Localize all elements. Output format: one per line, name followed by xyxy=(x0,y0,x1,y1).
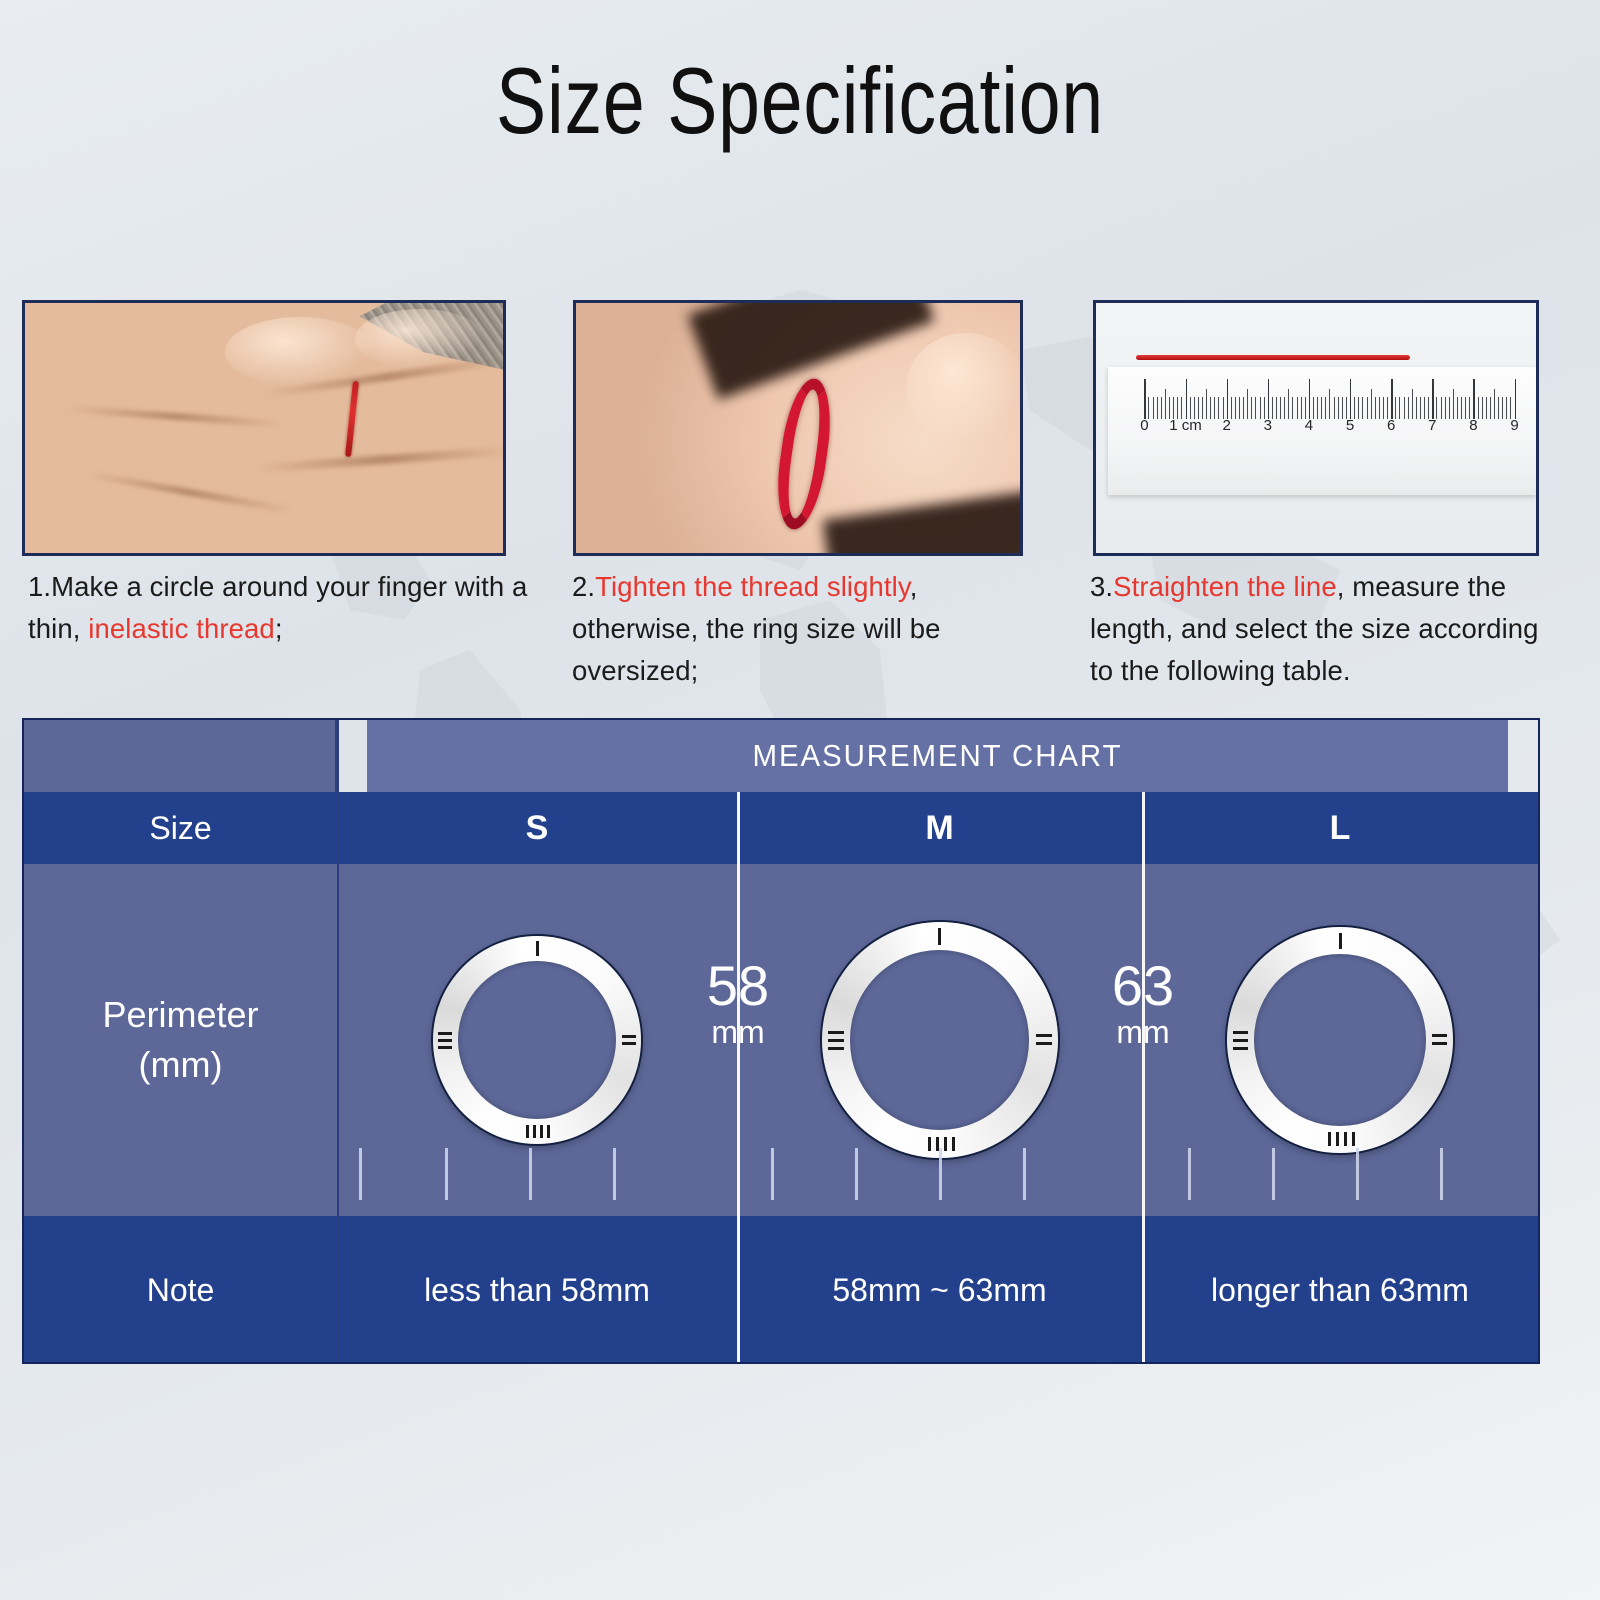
step-1-number: 1. xyxy=(28,571,51,602)
ruler-label-7: 7 xyxy=(1428,417,1436,434)
step-3-highlight: Straighten the line xyxy=(1113,571,1337,602)
ruler-numbers: 01 cm23456789 xyxy=(1108,417,1536,445)
threshold-63-value: 63 xyxy=(1095,958,1191,1014)
ruler-label-4: 4 xyxy=(1305,417,1313,434)
ruler-label-6: 6 xyxy=(1387,417,1395,434)
red-thread-ring xyxy=(770,377,837,532)
column-divider-label xyxy=(337,720,339,1364)
step-3-photo: 01 cm23456789 xyxy=(1093,300,1539,556)
scale-ticks-m xyxy=(737,1148,1142,1200)
note-row: Note less than 58mm 58mm ~ 63mm longer t… xyxy=(24,1216,1538,1364)
ruler-label-2: 2 xyxy=(1222,417,1230,434)
threshold-58-value: 58 xyxy=(690,958,786,1014)
measurement-chart-table: MEASUREMENT CHART Size S M L Perimeter (… xyxy=(22,718,1540,1364)
ring-cell-m xyxy=(737,864,1142,1216)
scale-ticks-s xyxy=(337,1148,737,1200)
ruler-label-9: 9 xyxy=(1510,417,1518,434)
finger-closeup-image xyxy=(576,303,1020,553)
step-2-caption: 2.Tighten the thread slightly, otherwise… xyxy=(572,566,1032,692)
note-row-label: Note xyxy=(24,1216,337,1364)
perimeter-label-text: Perimeter xyxy=(102,990,258,1040)
ruler-label-1: 1 cm xyxy=(1169,417,1202,434)
ruler-label-8: 8 xyxy=(1469,417,1477,434)
step-2-photo xyxy=(573,300,1023,556)
step-1-highlight: inelastic thread xyxy=(88,613,275,644)
threshold-63-unit: mm xyxy=(1095,1016,1191,1048)
ruler: 01 cm23456789 xyxy=(1108,367,1536,495)
ring-cell-s xyxy=(337,864,737,1216)
size-specification-page: Size Specification 01 cm23456789 xyxy=(0,0,1600,1600)
step-1-photo xyxy=(22,300,506,556)
ring-graphic-s xyxy=(433,936,641,1144)
step-1-caption: 1.Make a circle around your finger with … xyxy=(28,566,528,650)
step-1-post: ; xyxy=(275,613,283,644)
ring-graphic-l xyxy=(1227,927,1453,1153)
ruler-image: 01 cm23456789 xyxy=(1096,303,1536,553)
perimeter-label-unit: (mm) xyxy=(139,1040,223,1090)
page-title: Size Specification xyxy=(160,52,1440,151)
measured-thread-line xyxy=(1136,355,1410,360)
size-s-header: S xyxy=(337,792,737,864)
step-3-number: 3. xyxy=(1090,571,1113,602)
step-3-caption: 3.Straighten the line, measure the lengt… xyxy=(1090,566,1545,692)
size-row-label: Size xyxy=(24,792,337,864)
chart-title: MEASUREMENT CHART xyxy=(367,720,1508,792)
perimeter-row-label: Perimeter (mm) xyxy=(24,864,337,1216)
scale-ticks-l xyxy=(1142,1148,1538,1200)
threshold-58mm: 58 mm xyxy=(690,958,786,1048)
red-thread xyxy=(345,381,359,457)
note-s: less than 58mm xyxy=(337,1216,737,1364)
ruler-label-5: 5 xyxy=(1346,417,1354,434)
note-l: longer than 63mm xyxy=(1142,1216,1538,1364)
size-l-header: L xyxy=(1142,792,1538,864)
threshold-63mm: 63 mm xyxy=(1095,958,1191,1048)
header-blank-cell xyxy=(24,720,337,792)
step-2-highlight: Tighten the thread slightly xyxy=(595,571,910,602)
column-divider-m-l xyxy=(1142,792,1145,1364)
column-divider-s-m xyxy=(737,792,740,1364)
ruler-ticks xyxy=(1108,367,1536,419)
step-2-number: 2. xyxy=(572,571,595,602)
threshold-58-unit: mm xyxy=(690,1016,786,1048)
ruler-label-0: 0 xyxy=(1140,417,1148,434)
size-row: Size S M L xyxy=(24,792,1538,864)
ring-cell-l xyxy=(1142,864,1538,1216)
ring-graphic-m xyxy=(822,922,1058,1158)
note-m: 58mm ~ 63mm xyxy=(737,1216,1142,1364)
hand-with-thread-image xyxy=(25,303,503,553)
table-header-row: MEASUREMENT CHART xyxy=(24,720,1538,792)
size-m-header: M xyxy=(737,792,1142,864)
ruler-label-3: 3 xyxy=(1264,417,1272,434)
